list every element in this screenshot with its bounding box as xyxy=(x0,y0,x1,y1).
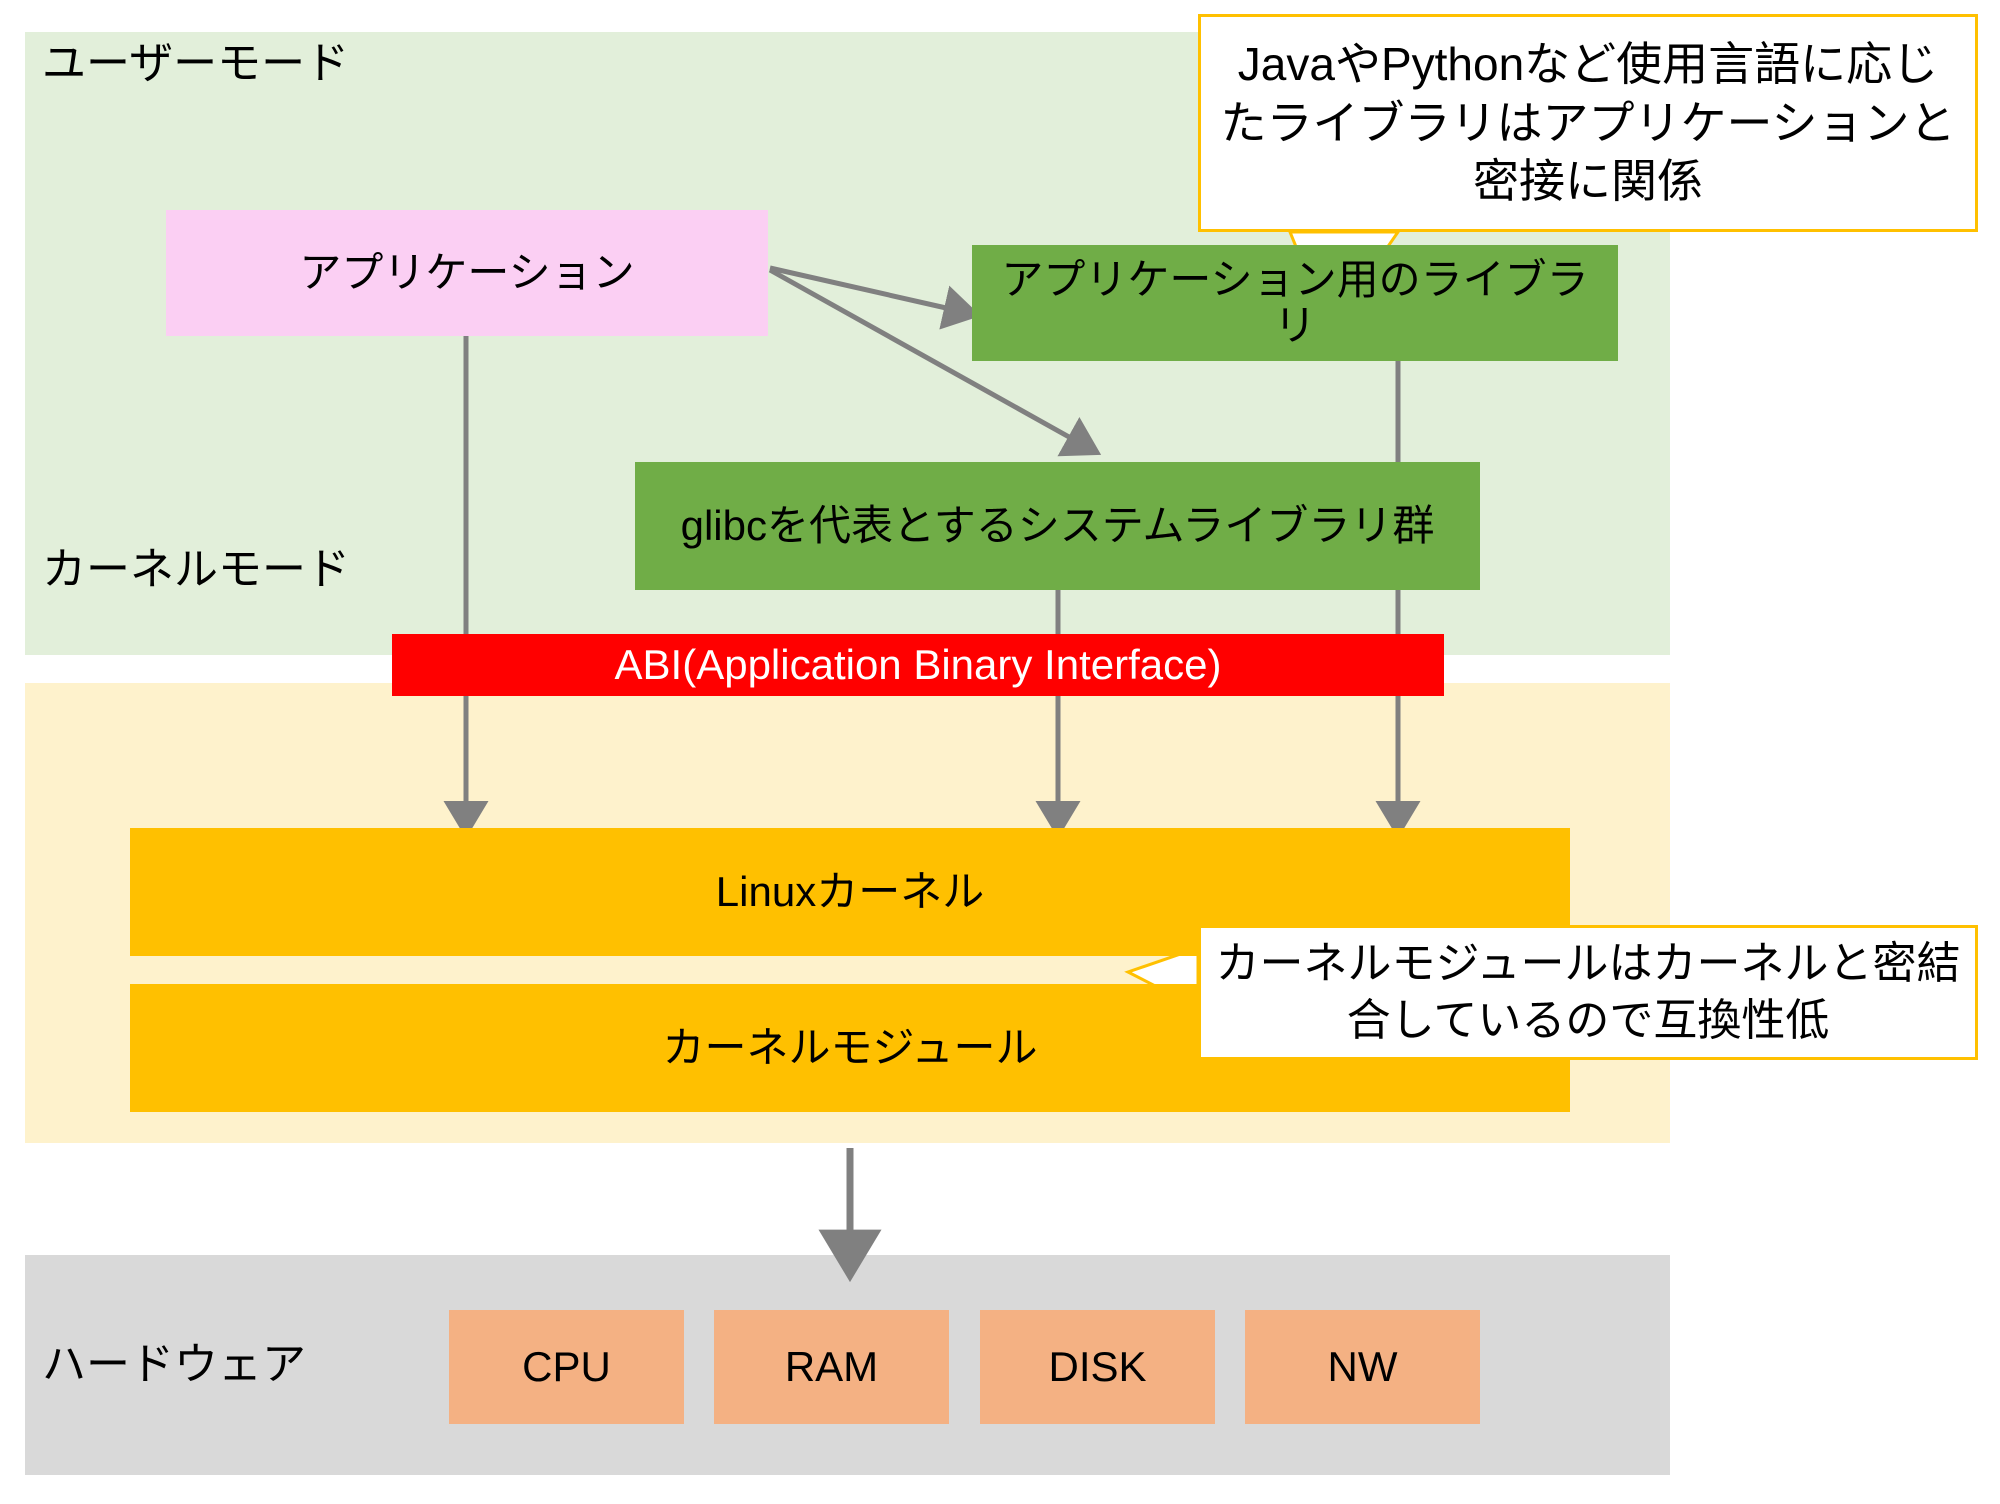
hardware-item-disk[interactable]: DISK xyxy=(980,1310,1215,1424)
box-kernel-module-label: カーネルモジュール xyxy=(662,1025,1037,1071)
box-application-label: アプリケーション xyxy=(299,250,634,296)
box-abi[interactable]: ABI(Application Binary Interface) xyxy=(392,634,1444,696)
box-application[interactable]: アプリケーション xyxy=(166,210,768,336)
hardware-item-disk-label: DISK xyxy=(1048,1343,1146,1391)
callout-module-note: カーネルモジュールはカーネルと密結合しているので互換性低 xyxy=(1198,925,1978,1060)
callout-library-note-text: JavaやPythonなど使用言語に応じたライブラリはアプリケーションと密接に関… xyxy=(1215,35,1961,212)
zone-user-mode-label: ユーザーモード xyxy=(42,42,349,86)
hardware-item-ram-label: RAM xyxy=(785,1343,878,1391)
box-system-library[interactable]: glibcを代表とするシステムライブラリ群 xyxy=(635,462,1480,590)
box-abi-label: ABI(Application Binary Interface) xyxy=(615,642,1222,688)
hardware-item-cpu-label: CPU xyxy=(522,1343,611,1391)
zone-hardware-label: ハードウェア xyxy=(42,1343,306,1387)
box-linux-kernel-label: Linuxカーネル xyxy=(716,869,984,915)
diagram-canvas: ユーザーモード カーネルモード ハードウェア アプリケーション アプリケーシ xyxy=(0,0,2000,1504)
hardware-item-nw-label: NW xyxy=(1328,1343,1398,1391)
hardware-item-cpu[interactable]: CPU xyxy=(449,1310,684,1424)
zone-kernel-mode-label: カーネルモード xyxy=(42,548,350,592)
box-app-library[interactable]: アプリケーション用のライブラリ xyxy=(972,245,1618,361)
box-app-library-label: アプリケーション用のライブラリ xyxy=(982,257,1608,349)
callout-module-note-text: カーネルモジュールはカーネルと密結合しているので互換性低 xyxy=(1215,936,1961,1049)
box-system-library-label: glibcを代表とするシステムライブラリ群 xyxy=(681,503,1435,549)
hardware-item-ram[interactable]: RAM xyxy=(714,1310,949,1424)
hardware-item-nw[interactable]: NW xyxy=(1245,1310,1480,1424)
callout-library-note: JavaやPythonなど使用言語に応じたライブラリはアプリケーションと密接に関… xyxy=(1198,14,1978,232)
